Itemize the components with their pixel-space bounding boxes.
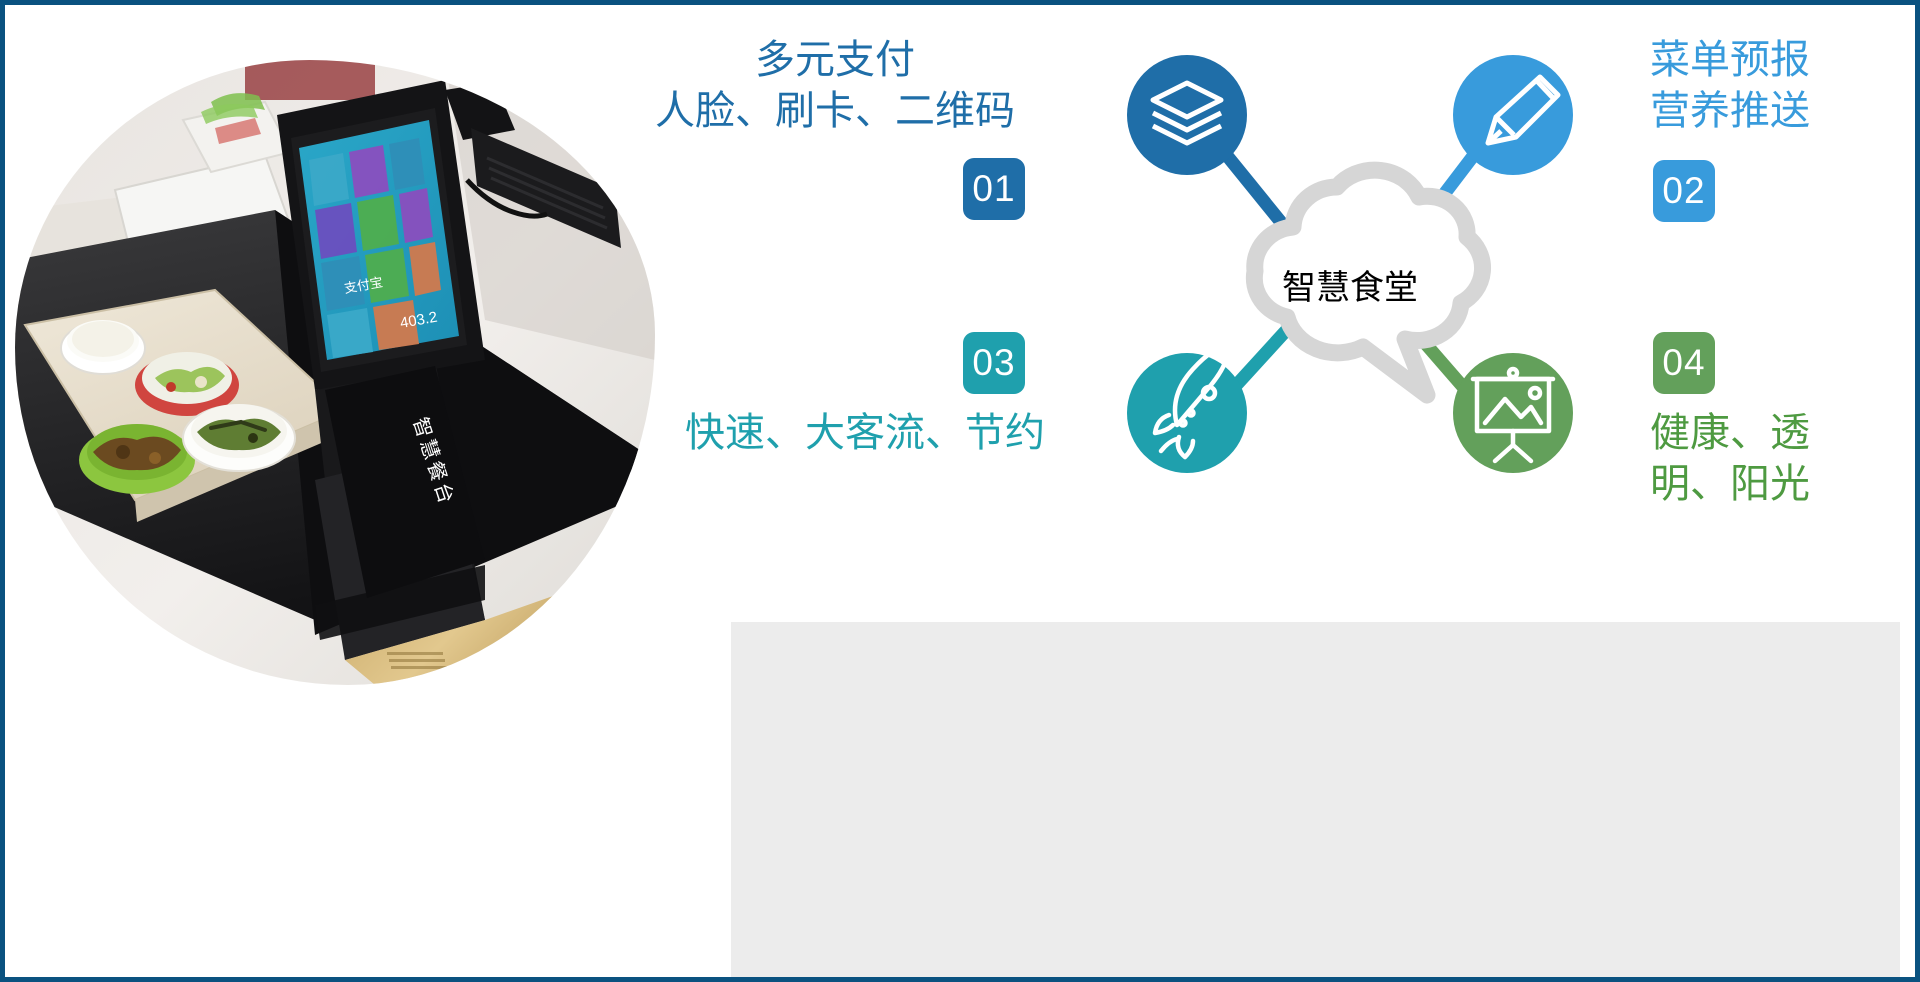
description-panel: 智慧校园平台统一消息模块，可向所有终端推送菜单，也可向个体推送营养信息。采用多元… (731, 622, 1900, 982)
pencil-node-circle[interactable] (1453, 55, 1573, 175)
cafeteria-terminal-photo: 支付宝 403.2 智慧餐台 (15, 60, 655, 685)
smart-canteen-diagram: 智慧食堂 (1125, 55, 1575, 475)
item-03-number-badge[interactable]: 03 (963, 332, 1025, 394)
item-04-number-badge[interactable]: 04 (1653, 332, 1715, 394)
node-pencil[interactable] (1453, 55, 1573, 175)
diagram-svg (1125, 55, 1575, 475)
node-rocket[interactable] (1127, 345, 1247, 473)
item-01-caption: 多元支付 人脸、刷卡、二维码 (625, 35, 1045, 137)
slide-canvas: 支付宝 403.2 智慧餐台 多元支付 人脸、刷卡、二维码 01 菜单预报 营养… (0, 0, 1920, 982)
item-04-caption: 健康、透 明、阳光 (1650, 408, 1920, 510)
item-03-caption: 快速、大客流、节约 (625, 408, 1045, 459)
node-layers[interactable] (1127, 55, 1247, 175)
node-presentation[interactable] (1453, 353, 1573, 473)
photo-illustration: 支付宝 403.2 智慧餐台 (15, 60, 655, 685)
photo-blob-mask: 支付宝 403.2 智慧餐台 (15, 60, 655, 685)
item-02-caption: 菜单预报 营养推送 (1650, 35, 1920, 137)
item-02-number-badge[interactable]: 02 (1653, 160, 1715, 222)
item-01-number-badge[interactable]: 01 (963, 158, 1025, 220)
